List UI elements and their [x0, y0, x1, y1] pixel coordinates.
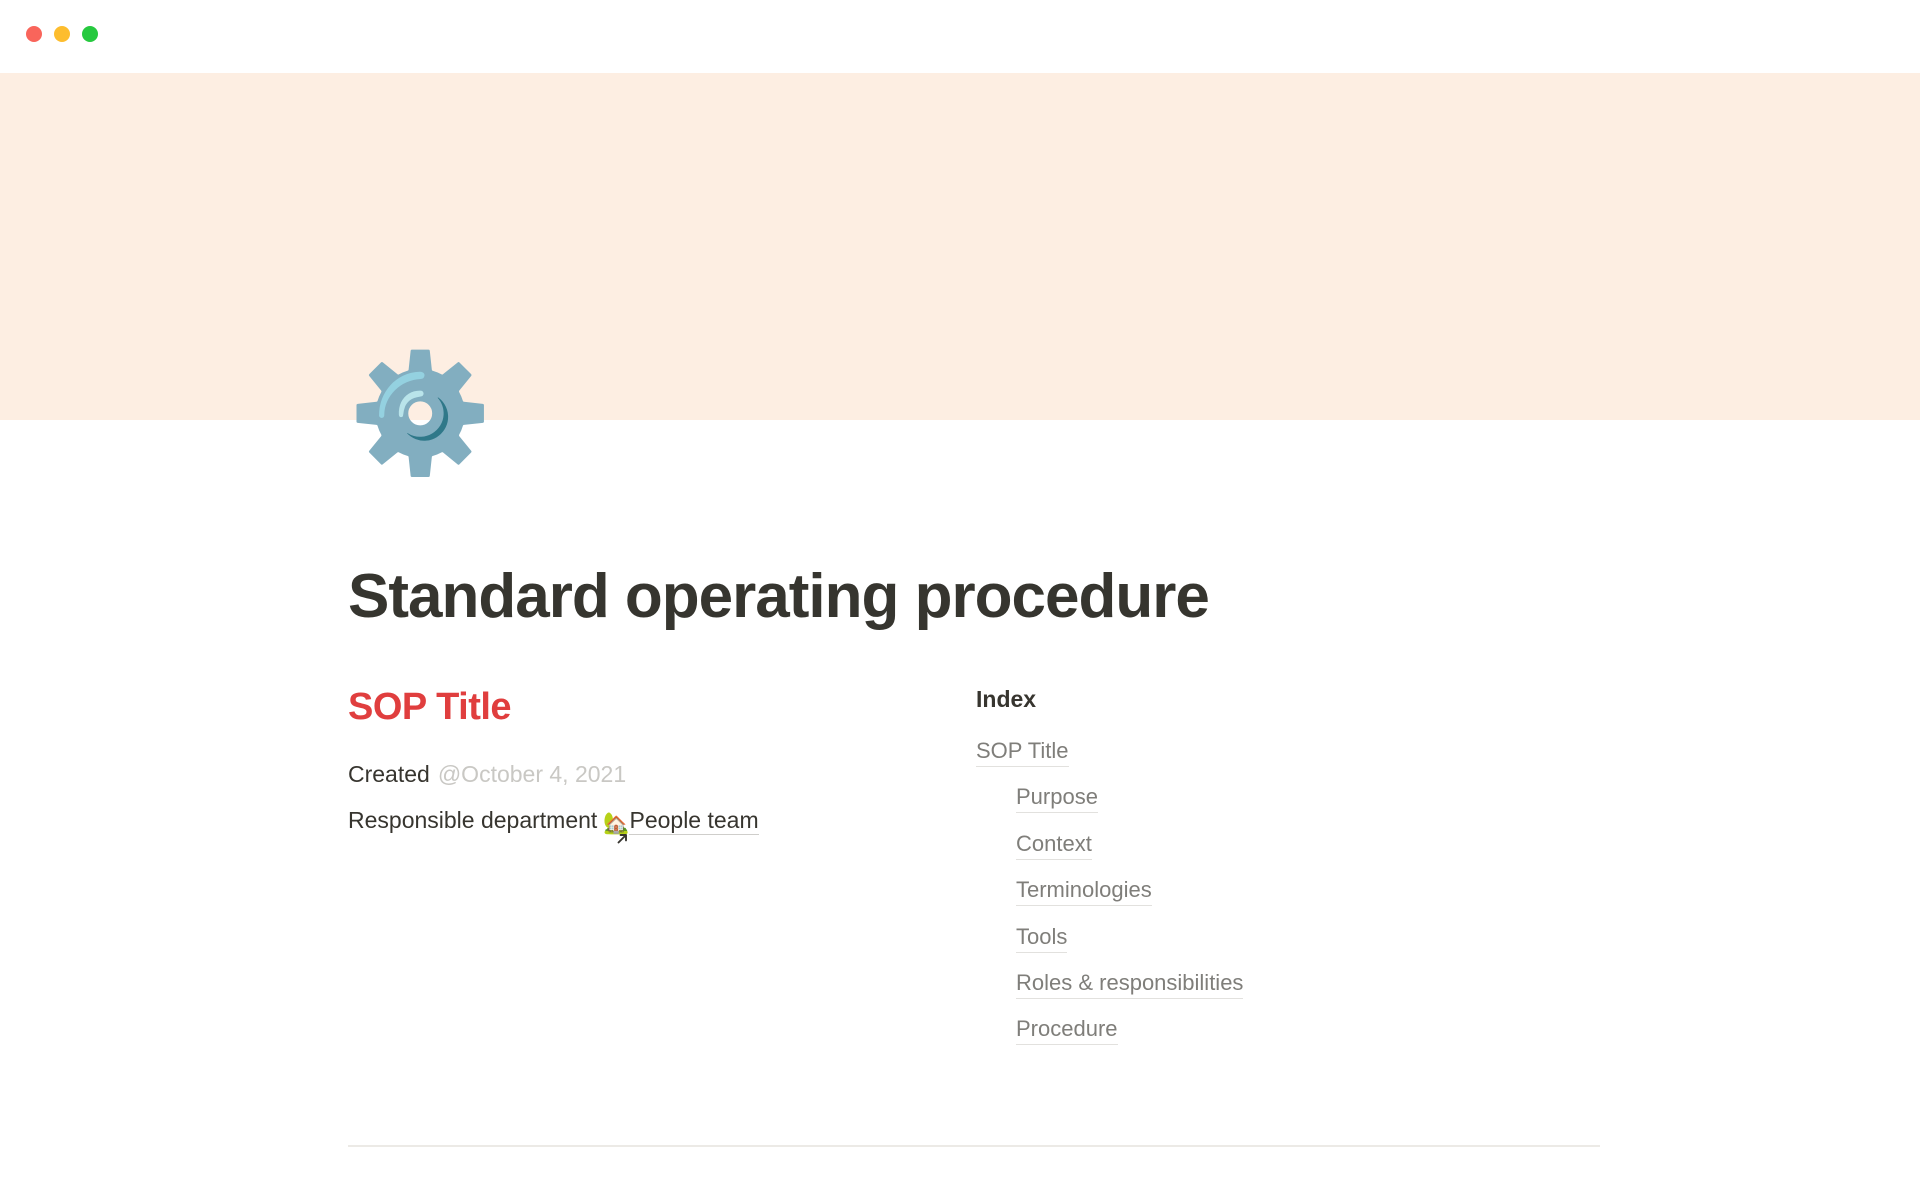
app-window: ⚙️ Standard operating procedure SOP Titl… [0, 0, 1920, 1200]
department-row: Responsible department🏡People team [348, 803, 908, 839]
index-item: SOP Title [976, 738, 1536, 764]
minimize-window-button[interactable] [54, 26, 70, 42]
index-item: Tools [976, 924, 1536, 950]
index-link-sop-title[interactable]: SOP Title [976, 738, 1069, 767]
close-window-button[interactable] [26, 26, 42, 42]
index-item: Terminologies [976, 877, 1536, 903]
created-row: Created@October 4, 2021 [348, 757, 908, 793]
gear-icon[interactable]: ⚙️ [348, 345, 484, 481]
index-item: Context [976, 831, 1536, 857]
index-link-terminologies[interactable]: Terminologies [1016, 877, 1152, 906]
window-titlebar [0, 0, 1920, 73]
index-heading: Index [976, 686, 1536, 713]
index-link-purpose[interactable]: Purpose [1016, 784, 1098, 813]
section-divider [348, 1145, 1600, 1147]
traffic-light-group [26, 26, 98, 42]
department-label: Responsible department [348, 807, 597, 833]
page-title[interactable]: Standard operating procedure [348, 561, 1209, 632]
two-column-layout: SOP Title Created@October 4, 2021 Respon… [348, 686, 1578, 1063]
maximize-window-button[interactable] [82, 26, 98, 42]
left-column: SOP Title Created@October 4, 2021 Respon… [348, 686, 908, 1063]
index-item: Roles & responsibilities [976, 970, 1536, 996]
index-link-roles-responsibilities[interactable]: Roles & responsibilities [1016, 970, 1243, 999]
index-item: Procedure [976, 1016, 1536, 1042]
index-link-procedure[interactable]: Procedure [1016, 1016, 1118, 1045]
created-label: Created [348, 761, 430, 787]
index-item: Purpose [976, 784, 1536, 810]
sop-title-heading[interactable]: SOP Title [348, 686, 908, 729]
right-column: Index SOP Title Purpose Context Terminol… [976, 686, 1536, 1063]
index-link-tools[interactable]: Tools [1016, 924, 1067, 953]
created-date-value[interactable]: @October 4, 2021 [438, 761, 626, 787]
page-content: ⚙️ Standard operating procedure SOP Titl… [0, 73, 1920, 1200]
index-link-context[interactable]: Context [1016, 831, 1092, 860]
department-page-link[interactable]: People team [629, 807, 758, 835]
index-list: SOP Title Purpose Context Terminologies … [976, 738, 1536, 1043]
